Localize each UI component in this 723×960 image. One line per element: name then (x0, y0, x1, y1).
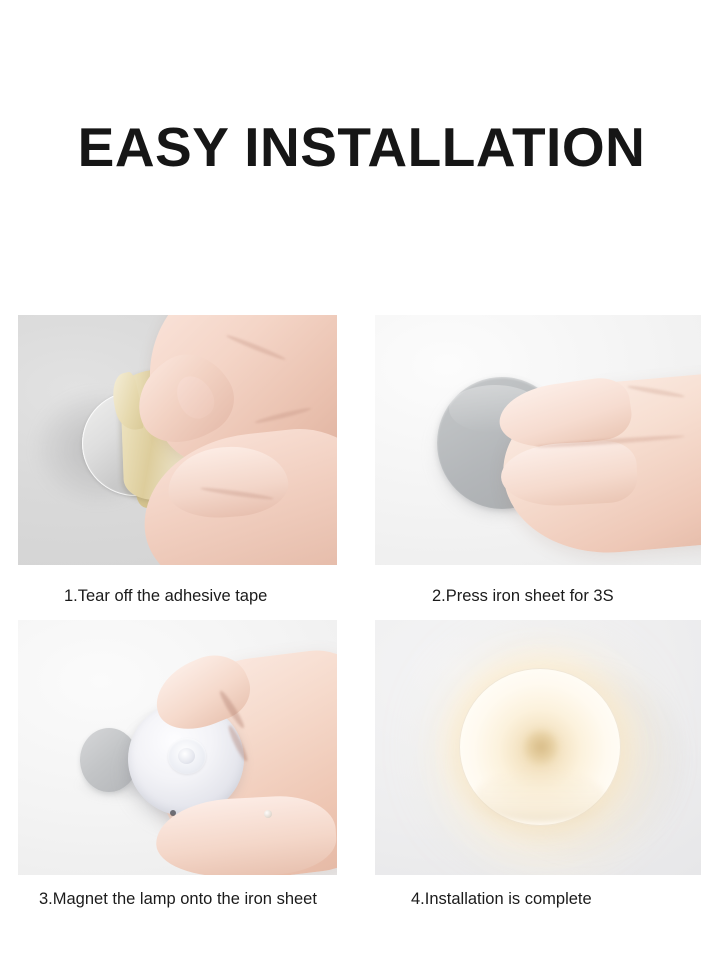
step-3-caption: 3.Magnet the lamp onto the iron sheet (39, 889, 317, 909)
magnet-lamp-photo (18, 620, 337, 875)
step-2-caption: 2.Press iron sheet for 3S (432, 586, 614, 606)
step-1-image-panel (18, 315, 337, 565)
motion-sensor-icon (178, 748, 195, 764)
installation-steps-grid: 1.Tear off the adhesive tape 2.Press iro… (0, 0, 723, 960)
step-2-image-panel (375, 315, 701, 565)
step-1-caption: 1.Tear off the adhesive tape (64, 586, 267, 606)
step-4-image-panel (375, 620, 701, 875)
installation-complete-photo (375, 620, 701, 875)
press-iron-sheet-photo (375, 315, 701, 565)
ring (264, 810, 272, 818)
tear-adhesive-tape-photo (18, 315, 337, 565)
step-3-image-panel (18, 620, 337, 875)
step-4-caption: 4.Installation is complete (411, 889, 592, 909)
lamp-center-core (521, 728, 561, 766)
